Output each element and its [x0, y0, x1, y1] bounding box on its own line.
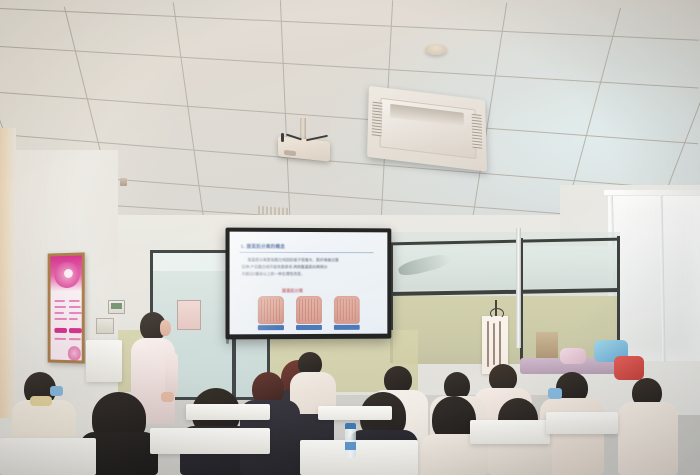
- poster-text-line: [54, 338, 66, 340]
- classroom-photo: 1. 腹直肌分离的概念 腹直肌分离是指腹白线因妊娠子宫增大、肌纤维被过度 拉伸,…: [0, 0, 700, 475]
- thermostat-display: [111, 303, 122, 309]
- poster-text-line: [69, 306, 81, 308]
- poster-text-line: [69, 300, 80, 302]
- poster-text-line: [69, 312, 82, 314]
- desk: [86, 340, 122, 382]
- wall-switch-panel[interactable]: [96, 318, 114, 334]
- air-conditioner-unit: [367, 86, 487, 172]
- poster-text-line: [54, 318, 67, 320]
- attendee-body: [618, 402, 678, 475]
- face-mask: [548, 388, 562, 399]
- storage-bag: [614, 356, 644, 380]
- storage-bag: [560, 348, 586, 364]
- poster-text-line: [54, 300, 65, 302]
- poster-text-line: [54, 312, 64, 314]
- face-mask: [50, 386, 63, 396]
- poster-badge: [69, 328, 82, 333]
- projector-cable: [281, 133, 284, 142]
- screen-glare: [230, 232, 388, 335]
- attendee-scarf: [30, 396, 52, 406]
- scroll-text-column: [487, 321, 489, 367]
- scroll-cord: [495, 300, 497, 316]
- poster-text-line: [54, 306, 66, 308]
- vertical-pole: [516, 228, 521, 348]
- projection-screen: 1. 腹直肌分离的概念 腹直肌分离是指腹白线因妊娠子宫增大、肌纤维被过度 拉伸,…: [230, 232, 388, 335]
- presenter-hand: [161, 392, 174, 402]
- smoke-detector-icon: [425, 44, 447, 55]
- sprinkler-icon: [120, 178, 127, 186]
- desk: [300, 440, 418, 475]
- scroll-text-column: [499, 321, 501, 366]
- desk: [470, 420, 550, 444]
- desk: [0, 438, 96, 475]
- wall-thermostat[interactable]: [108, 300, 125, 314]
- poster-text-line: [69, 318, 78, 320]
- desk: [318, 406, 392, 420]
- bottle-label: [345, 442, 356, 450]
- bottle-cap: [345, 423, 356, 429]
- poster-text-line: [69, 338, 81, 340]
- door-sign: [177, 300, 201, 330]
- air-conditioner-grille: [372, 102, 383, 137]
- window-header-glow: [604, 190, 700, 195]
- scroll-hanger: [490, 308, 504, 319]
- scroll-text-column: [493, 323, 495, 365]
- desk: [546, 412, 618, 434]
- presenter-face: [160, 320, 171, 336]
- presenter-arm: [165, 352, 178, 396]
- poster-figure: [68, 346, 81, 360]
- column-edge: [0, 128, 16, 418]
- side-table: [536, 332, 558, 358]
- wall-poster: [48, 252, 85, 363]
- poster-badge: [54, 328, 67, 333]
- right-window: [608, 196, 700, 361]
- air-conditioner-grille: [472, 114, 483, 149]
- water-bottle[interactable]: [345, 428, 356, 458]
- projector-lens: [284, 150, 296, 156]
- desk: [150, 428, 270, 454]
- desk: [186, 404, 270, 420]
